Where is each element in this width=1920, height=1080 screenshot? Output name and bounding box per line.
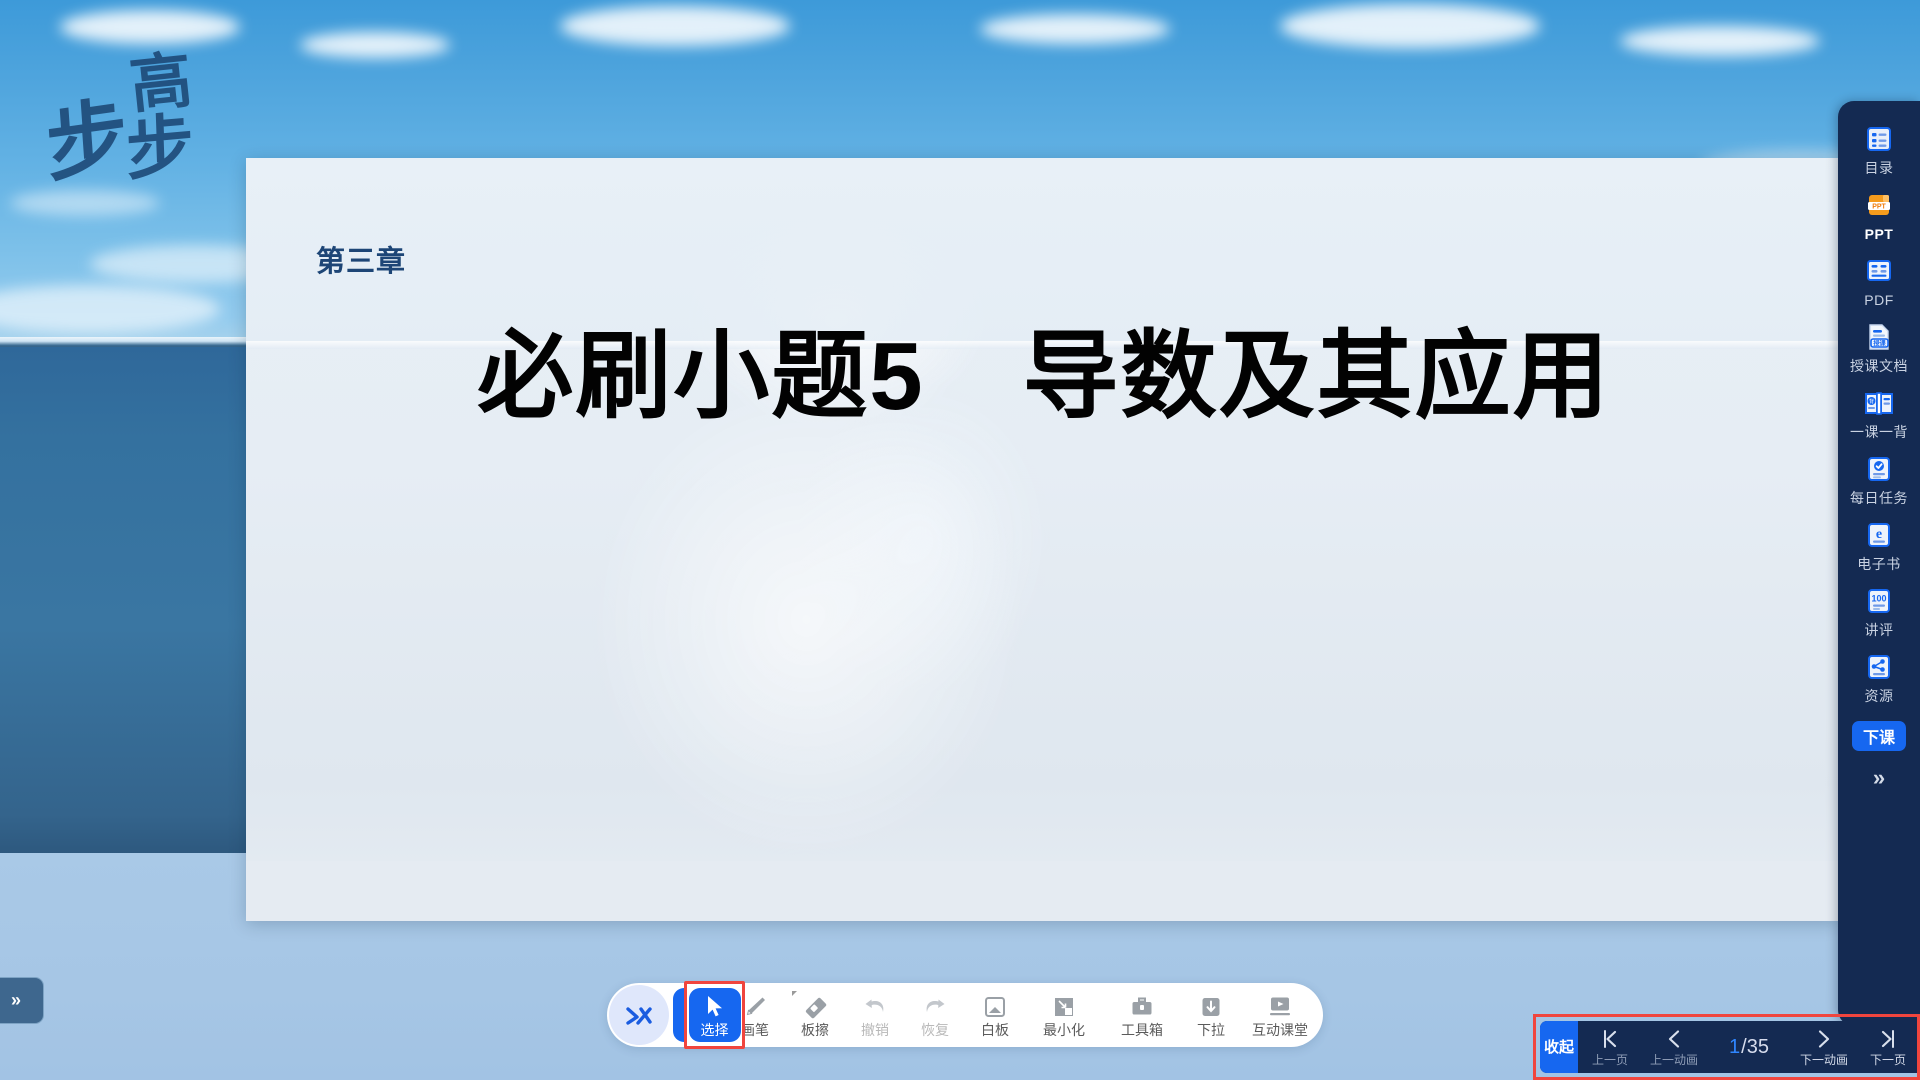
app-root: 高 步 步 第三章 必刷小题5 导数及其应用 »	[0, 0, 1920, 1080]
tool-minimize-label: 最小化	[1043, 1023, 1085, 1037]
tool-redo[interactable]: 恢复	[905, 986, 965, 1044]
sidebar-item-recite-label: 一课一背	[1850, 425, 1908, 439]
nav-first-page-button[interactable]: 上一页	[1578, 1021, 1642, 1073]
score-100-icon: 100	[1862, 584, 1896, 618]
sidebar-item-daily-task-label: 每日任务	[1850, 491, 1908, 505]
select-tool-highlight: 选择	[684, 981, 745, 1049]
resource-icon	[1862, 650, 1896, 684]
last-page-icon	[1876, 1028, 1900, 1053]
daily-task-icon	[1862, 452, 1896, 486]
tool-minimize[interactable]: 最小化	[1025, 986, 1103, 1044]
tool-undo-label: 撤销	[861, 1023, 889, 1037]
teaching-doc-icon: 授课	[1862, 320, 1896, 354]
sidebar-item-catalog[interactable]: 目录	[1838, 115, 1920, 181]
slide-canvas[interactable]: 第三章 必刷小题5 导数及其应用	[246, 158, 1838, 921]
tool-eraser[interactable]: 板擦	[785, 986, 845, 1044]
tool-pulldown-label: 下拉	[1197, 1023, 1225, 1037]
svg-text:e: e	[1876, 527, 1882, 542]
catalog-icon	[1862, 122, 1896, 156]
page-counter: 1 / 35	[1706, 1021, 1792, 1073]
sidebar-item-ebook-label: 电子书	[1857, 557, 1901, 571]
eraser-icon	[802, 994, 828, 1021]
svg-text:授课: 授课	[1873, 339, 1886, 347]
page-navigation-bar: 收起 上一页 上一动画 1 / 35	[1540, 1021, 1920, 1073]
minimize-icon	[1051, 994, 1077, 1021]
slide-chapter-label: 第三章	[316, 238, 406, 280]
ppt-file-icon: PPT	[1862, 188, 1896, 222]
pen-icon	[742, 994, 768, 1021]
interactive-class-icon	[1266, 994, 1294, 1021]
sidebar-item-review-label: 讲评	[1865, 623, 1894, 637]
whiteboard-icon	[982, 994, 1008, 1021]
undo-icon	[862, 994, 888, 1021]
sidebar-item-recite[interactable]: 背 一课一背	[1838, 379, 1920, 445]
recite-book-icon: 背	[1862, 386, 1896, 420]
sidebar-item-ebook[interactable]: e 电子书	[1838, 511, 1920, 577]
sidebar-item-resource-label: 资源	[1865, 689, 1894, 703]
total-page-number: 35	[1747, 1036, 1769, 1059]
tool-toolbox-label: 工具箱	[1121, 1023, 1163, 1037]
tool-interactive-class-label: 互动课堂	[1252, 1023, 1308, 1037]
sidebar-item-ppt-label: PPT	[1865, 227, 1894, 241]
tool-whiteboard[interactable]: 白板	[965, 986, 1025, 1044]
sidebar-item-review[interactable]: 100 讲评	[1838, 577, 1920, 643]
nav-last-page-label: 下一页	[1870, 1054, 1906, 1066]
toolbox-icon	[1129, 994, 1155, 1021]
right-sidebar: 目录 PPT PPT	[1838, 101, 1920, 1026]
nav-prev-animation-label: 上一动画	[1650, 1054, 1698, 1066]
nav-next-animation-button[interactable]: 下一动画	[1792, 1021, 1856, 1073]
nav-prev-animation-button[interactable]: 上一动画	[1642, 1021, 1706, 1073]
nav-next-animation-label: 下一动画	[1800, 1054, 1848, 1066]
tool-select-label: 选择	[701, 1023, 729, 1037]
left-panel-expand-button[interactable]: »	[0, 977, 44, 1024]
tool-pen-label: 画笔	[741, 1023, 769, 1037]
ebook-icon: e	[1862, 518, 1896, 552]
nav-collapse-button[interactable]: 收起	[1540, 1021, 1578, 1073]
tool-toolbox[interactable]: 工具箱	[1103, 986, 1181, 1044]
tool-whiteboard-label: 白板	[981, 1023, 1009, 1037]
chevron-double-right-icon: »	[11, 990, 21, 1011]
slide-title: 必刷小题5 导数及其应用	[264, 298, 1824, 437]
sidebar-collapse-button[interactable]: »	[1873, 765, 1885, 791]
sidebar-item-daily-task[interactable]: 每日任务	[1838, 445, 1920, 511]
sidebar-item-teaching-doc[interactable]: 授课 授课文档	[1838, 313, 1920, 379]
sidebar-item-pdf-label: PDF	[1864, 293, 1894, 307]
redo-icon	[922, 994, 948, 1021]
chevron-right-icon	[1812, 1028, 1836, 1053]
tool-eraser-label: 板擦	[801, 1023, 829, 1037]
pdf-file-icon	[1862, 254, 1896, 288]
end-class-label: 下课	[1863, 724, 1895, 748]
slide-footer-band	[246, 861, 1838, 921]
current-page-number: 1	[1729, 1036, 1740, 1059]
tool-redo-label: 恢复	[921, 1023, 949, 1037]
toolbar-brand-button[interactable]	[609, 985, 669, 1045]
cursor-arrow-icon	[705, 994, 725, 1021]
nav-first-page-label: 上一页	[1592, 1054, 1628, 1066]
svg-text:背: 背	[1869, 398, 1874, 405]
svg-text:PPT: PPT	[1872, 204, 1886, 211]
app-logo-icon	[624, 1000, 654, 1030]
nav-last-page-button[interactable]: 下一页	[1856, 1021, 1920, 1073]
dropdown-caret-icon[interactable]	[792, 991, 797, 996]
tool-undo[interactable]: 撤销	[845, 986, 905, 1044]
sidebar-item-resource[interactable]: 资源	[1838, 643, 1920, 709]
sidebar-item-ppt[interactable]: PPT PPT	[1838, 181, 1920, 247]
end-class-button[interactable]: 下课	[1852, 721, 1906, 751]
first-page-icon	[1598, 1028, 1622, 1053]
chevron-left-icon	[1662, 1028, 1686, 1053]
nav-collapse-label: 收起	[1544, 1039, 1574, 1056]
sidebar-item-catalog-label: 目录	[1865, 161, 1894, 175]
sidebar-item-teaching-doc-label: 授课文档	[1850, 359, 1908, 373]
tool-pulldown[interactable]: 下拉	[1181, 986, 1241, 1044]
tool-interactive-class[interactable]: 互动课堂	[1241, 986, 1319, 1044]
chevron-double-right-icon: »	[1873, 765, 1885, 790]
tool-select-highlighted[interactable]: 选择	[689, 988, 741, 1042]
pulldown-icon	[1198, 994, 1224, 1021]
sidebar-item-pdf[interactable]: PDF	[1838, 247, 1920, 313]
svg-text:100: 100	[1871, 594, 1886, 604]
